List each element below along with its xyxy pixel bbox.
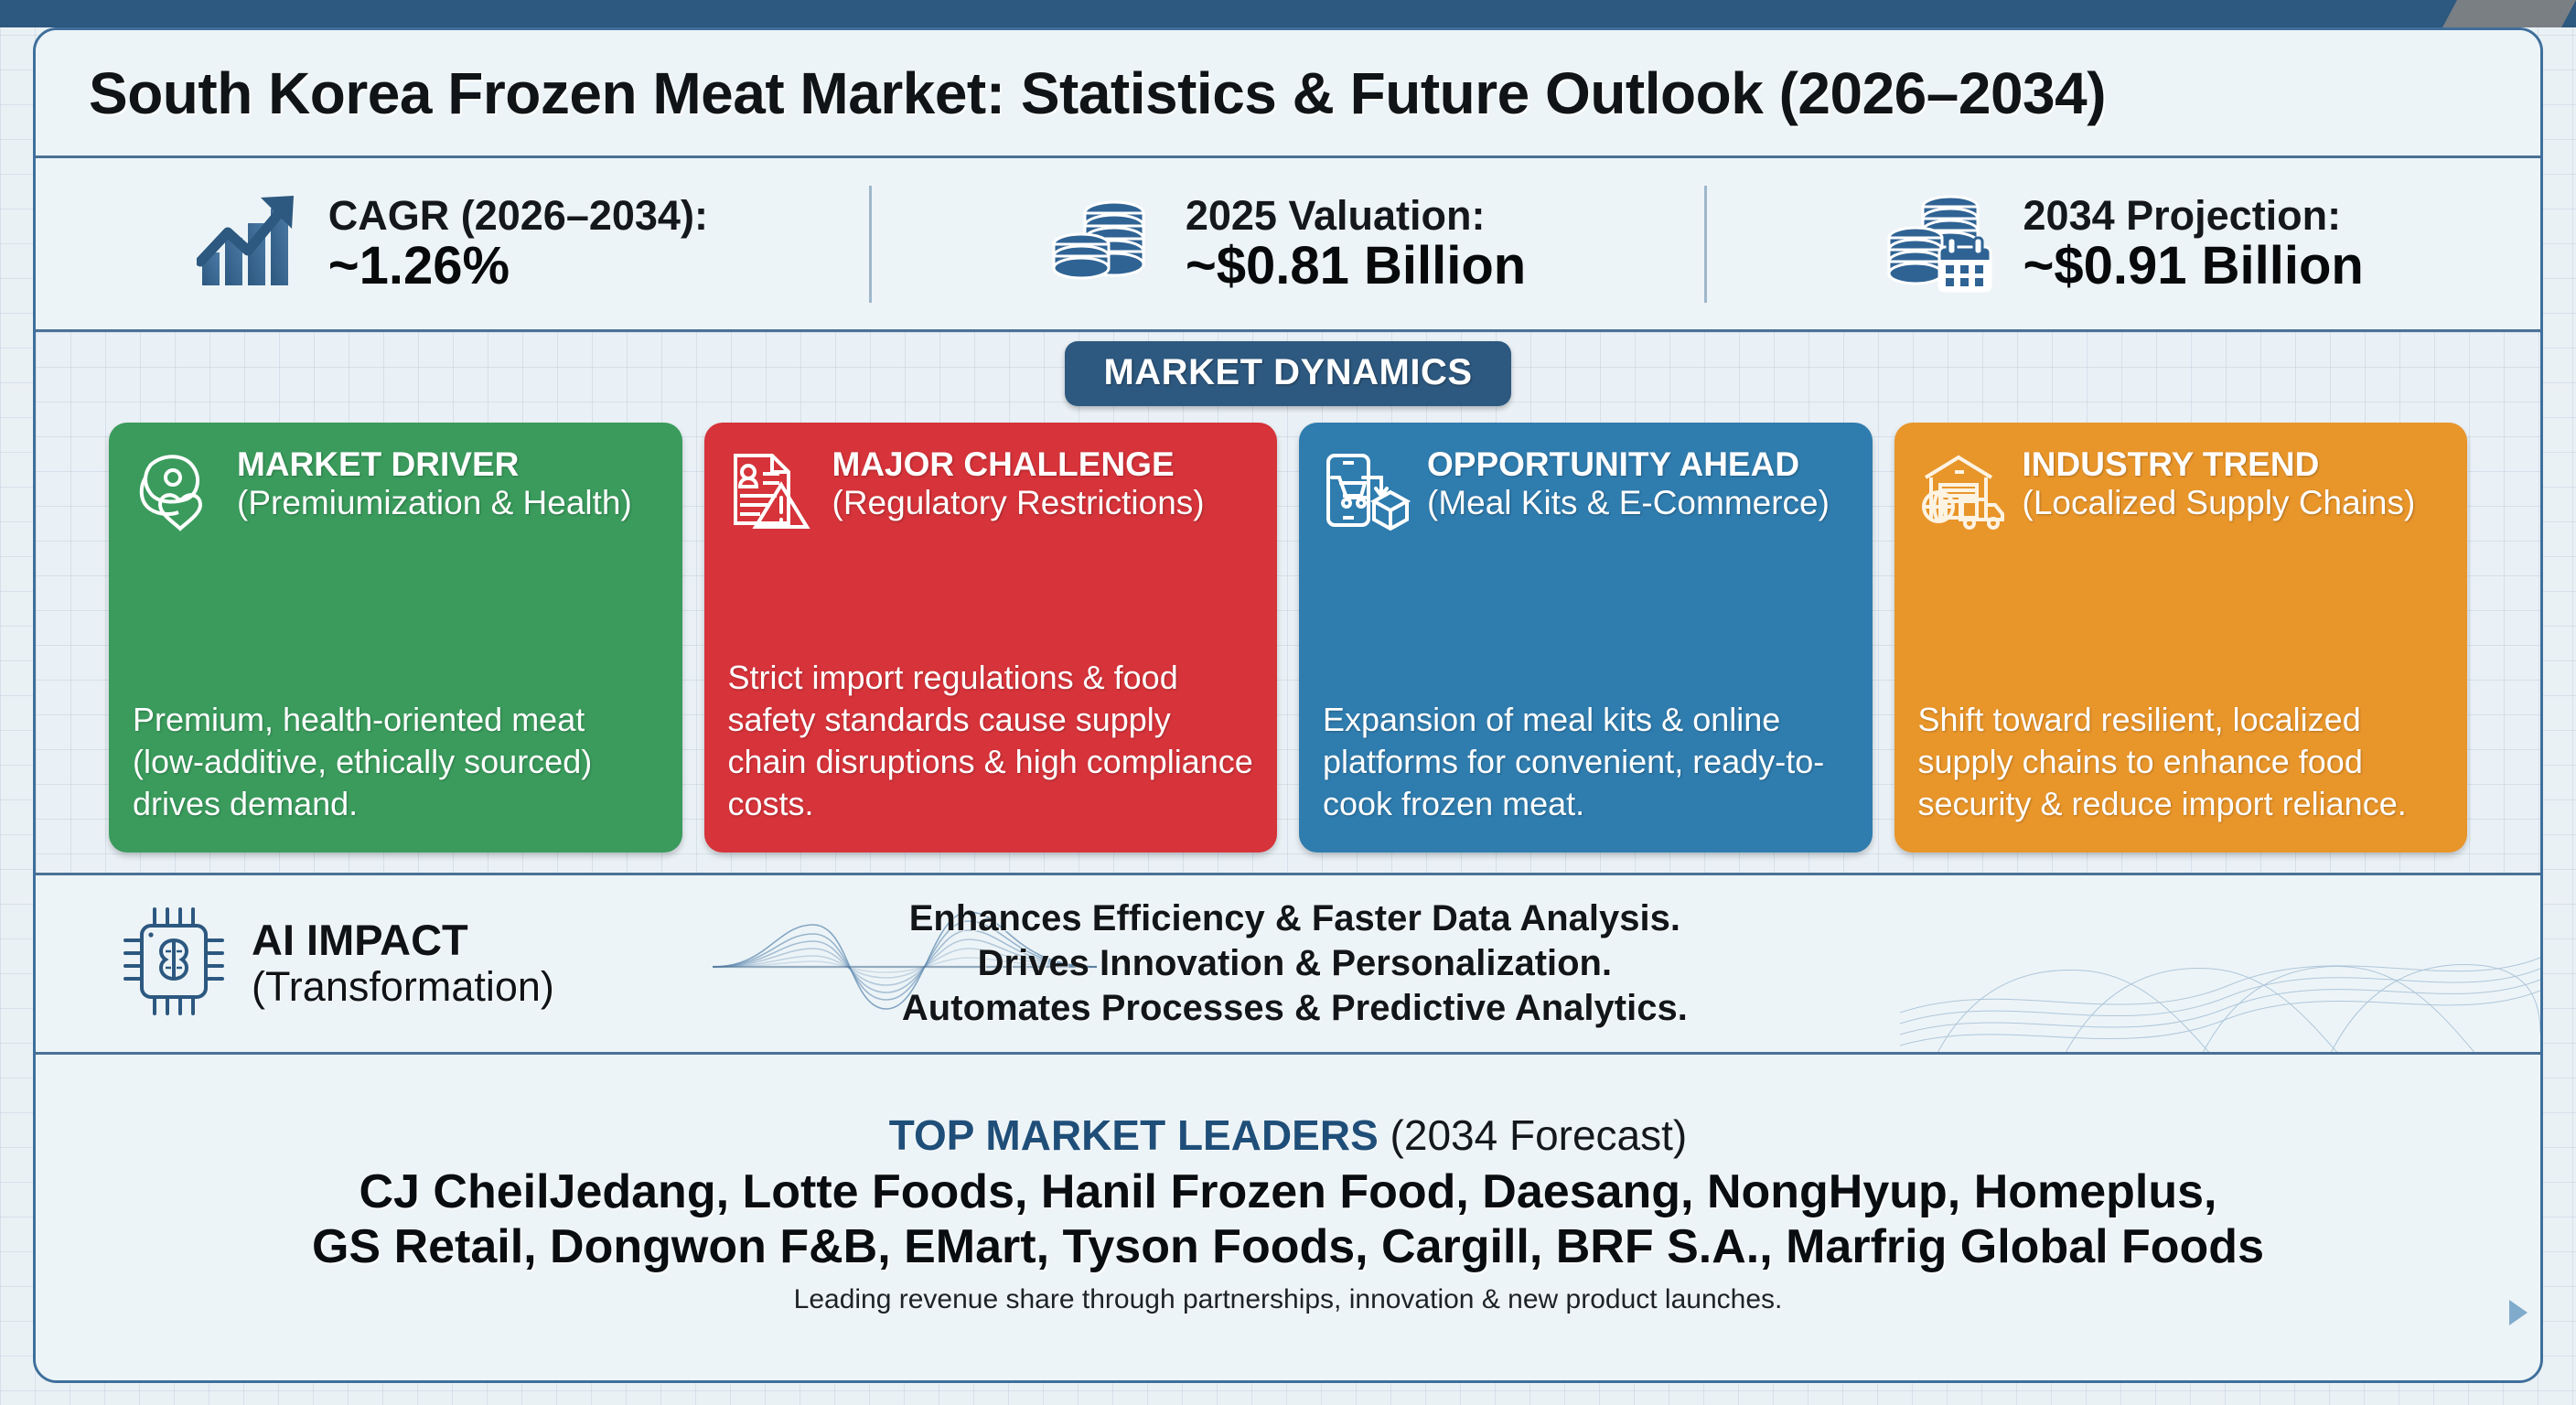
dynamics-card-body: Strict import regulations & food safety … [728, 657, 1254, 825]
stats-row: CAGR (2026–2034): ~1.26% [36, 158, 2540, 332]
ai-impact-line-3: Automates Processes & Predictive Analyti… [902, 986, 1688, 1031]
stat-valuation-2025: 2025 Valuation: ~$0.81 Billion [869, 186, 1705, 303]
dynamics-card-market-driver[interactable]: MARKET DRIVER (Premiumization & Health) … [109, 423, 682, 853]
ai-impact-row: AI IMPACT (Transformation) Enhances Effi… [36, 875, 2540, 1055]
coin-stacks-calendar-icon [1884, 190, 2000, 297]
smartphone-cart-parcel-icon [1323, 450, 1411, 539]
stat-valuation-2025-label: 2025 Valuation: [1186, 194, 1526, 238]
market-dynamics-banner: MARKET DYNAMICS [1065, 341, 1510, 406]
growth-chart-arrow-icon [197, 192, 305, 295]
top-market-leaders-heading: TOP MARKET LEADERS (2034 Forecast) [889, 1112, 1688, 1159]
ai-impact-titles: AI IMPACT (Transformation) [252, 917, 554, 1009]
ai-impact-lines: Enhances Efficiency & Faster Data Analys… [902, 896, 1688, 1030]
ai-chip-brain-icon [118, 902, 230, 1025]
document-warning-icon [728, 450, 816, 539]
top-market-leaders-line-2: GS Retail, Dongwon F&B, EMart, Tyson Foo… [312, 1219, 2264, 1274]
dynamics-card-industry-trend[interactable]: INDUSTRY TREND (Localized Supply Chains)… [1894, 423, 2468, 853]
market-dynamics-section: MARKET DYNAMICS MARKET DRIVER [36, 332, 2540, 875]
ai-impact-left: AI IMPACT (Transformation) [36, 902, 554, 1025]
stat-cagr-label: CAGR (2026–2034): [328, 194, 708, 238]
dynamics-card-title: MARKET DRIVER [237, 446, 632, 484]
dynamics-card-opportunity-ahead[interactable]: OPPORTUNITY AHEAD (Meal Kits & E-Commerc… [1299, 423, 1873, 853]
top-market-leaders-section: TOP MARKET LEADERS (2034 Forecast) CJ Ch… [36, 1055, 2540, 1380]
dynamics-card-title: INDUSTRY TREND [2023, 446, 2416, 484]
dynamics-card-subtitle: (Premiumization & Health) [237, 484, 632, 523]
corner-arrow-icon [2509, 1300, 2528, 1325]
ai-impact-subtitle: (Transformation) [252, 964, 554, 1010]
warehouse-globe-truck-icon [1918, 450, 2006, 539]
dynamics-card-title: OPPORTUNITY AHEAD [1427, 446, 1830, 484]
market-dynamics-banner-wrap: MARKET DYNAMICS [36, 332, 2540, 423]
dynamics-card-body: Premium, health-oriented meat (low-addit… [133, 699, 659, 825]
dynamics-card-title: MAJOR CHALLENGE [832, 446, 1205, 484]
dynamics-card-titles: INDUSTRY TREND (Localized Supply Chains) [2023, 446, 2416, 522]
stat-cagr: CAGR (2026–2034): ~1.26% [36, 192, 869, 295]
dynamics-card-body: Expansion of meal kits & online platform… [1323, 699, 1849, 825]
dynamics-card-head: MAJOR CHALLENGE (Regulatory Restrictions… [728, 446, 1254, 539]
top-market-leaders-line-1: CJ CheilJedang, Lotte Foods, Hanil Froze… [359, 1164, 2216, 1219]
stat-projection-2034-label: 2034 Projection: [2023, 194, 2364, 238]
dynamics-card-subtitle: (Regulatory Restrictions) [832, 484, 1205, 523]
dynamics-card-subtitle: (Localized Supply Chains) [2023, 484, 2416, 523]
stat-cagr-text: CAGR (2026–2034): ~1.26% [328, 194, 708, 294]
top-market-leaders-heading-light: (2034 Forecast) [1379, 1111, 1687, 1159]
dynamics-card-body: Shift toward resilient, localized supply… [1918, 699, 2444, 825]
infographic-card: South Korea Frozen Meat Market: Statisti… [33, 27, 2543, 1383]
dynamics-cards-row: MARKET DRIVER (Premiumization & Health) … [36, 423, 2540, 853]
dynamics-card-subtitle: (Meal Kits & E-Commerce) [1427, 484, 1830, 523]
ai-impact-title: AI IMPACT [252, 917, 554, 964]
dynamics-card-major-challenge[interactable]: MAJOR CHALLENGE (Regulatory Restrictions… [704, 423, 1278, 853]
stat-projection-2034-text: 2034 Projection: ~$0.91 Billion [2023, 194, 2364, 294]
top-blue-band [0, 0, 2576, 27]
ai-impact-line-2: Drives Innovation & Personalization. [978, 941, 1612, 986]
meat-steak-heart-icon [133, 450, 220, 539]
dynamics-card-titles: MARKET DRIVER (Premiumization & Health) [237, 446, 632, 522]
dynamics-card-titles: MAJOR CHALLENGE (Regulatory Restrictions… [832, 446, 1205, 522]
dynamics-card-head: MARKET DRIVER (Premiumization & Health) [133, 446, 659, 539]
top-market-leaders-footnote: Leading revenue share through partnershi… [794, 1284, 1783, 1315]
ai-impact-line-1: Enhances Efficiency & Faster Data Analys… [909, 896, 1680, 941]
page-title: South Korea Frozen Meat Market: Statisti… [89, 59, 2106, 127]
dynamics-card-head: OPPORTUNITY AHEAD (Meal Kits & E-Commerc… [1323, 446, 1849, 539]
ai-mesh-decoration [1900, 875, 2540, 1055]
top-market-leaders-heading-strong: TOP MARKET LEADERS [889, 1111, 1379, 1159]
title-bar: South Korea Frozen Meat Market: Statisti… [36, 30, 2540, 158]
top-gray-accent [2442, 0, 2576, 27]
stat-valuation-2025-value: ~$0.81 Billion [1186, 238, 1526, 294]
stat-projection-2034-value: ~$0.91 Billion [2023, 238, 2364, 294]
dynamics-card-head: INDUSTRY TREND (Localized Supply Chains) [1918, 446, 2444, 539]
stat-cagr-value: ~1.26% [328, 238, 708, 294]
dynamics-card-titles: OPPORTUNITY AHEAD (Meal Kits & E-Commerc… [1427, 446, 1830, 522]
stat-projection-2034: 2034 Projection: ~$0.91 Billion [1704, 186, 2540, 303]
coin-stacks-icon [1050, 193, 1162, 295]
stat-valuation-2025-text: 2025 Valuation: ~$0.81 Billion [1186, 194, 1526, 294]
